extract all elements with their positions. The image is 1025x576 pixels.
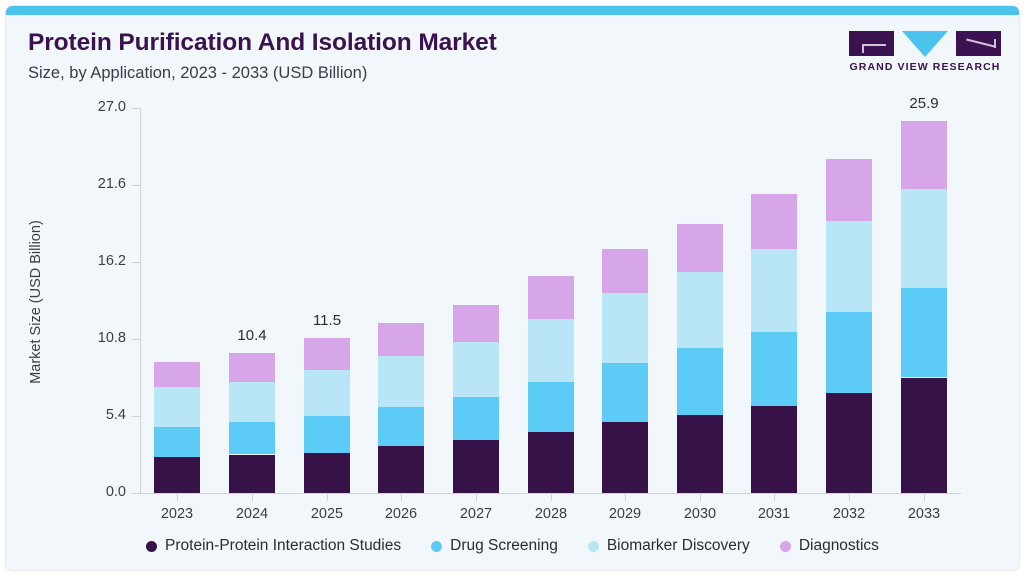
y-axis-tick-label: 0.0	[66, 484, 126, 500]
bar-segment[interactable]	[453, 440, 499, 493]
x-axis-tick	[924, 494, 925, 501]
x-axis-tick-label: 2027	[439, 506, 513, 522]
bar-segment[interactable]	[304, 338, 350, 371]
bar-segment[interactable]	[229, 422, 275, 455]
bar-segment[interactable]	[751, 406, 797, 493]
bar-segment[interactable]	[453, 397, 499, 440]
y-axis-tick	[132, 185, 141, 186]
bar-segment[interactable]	[677, 415, 723, 493]
bar-stack[interactable]	[154, 108, 200, 493]
y-axis-tick-label: 27.0	[66, 99, 126, 115]
bar-segment[interactable]	[751, 332, 797, 406]
legend-item[interactable]: Biomarker Discovery	[588, 537, 750, 555]
bar-stack[interactable]: 25.9	[901, 108, 947, 493]
y-axis-tick	[132, 339, 141, 340]
x-axis-tick-label: 2024	[215, 506, 289, 522]
bar-segment[interactable]	[901, 121, 947, 189]
bar-stack[interactable]	[602, 108, 648, 493]
legend-item-label: Drug Screening	[450, 537, 558, 555]
x-axis-tick	[327, 494, 328, 501]
legend-item[interactable]: Protein-Protein Interaction Studies	[146, 537, 401, 555]
bar-segment[interactable]	[154, 427, 200, 457]
x-axis-tick	[551, 494, 552, 501]
bar-segment[interactable]	[154, 387, 200, 427]
legend-swatch-icon	[588, 541, 599, 552]
x-axis-tick-label: 2023	[140, 506, 214, 522]
bar-segment[interactable]	[826, 393, 872, 493]
bar-segment[interactable]	[826, 312, 872, 393]
bar-segment[interactable]	[602, 363, 648, 421]
y-axis-tick	[132, 493, 141, 494]
legend-item-label: Protein-Protein Interaction Studies	[165, 537, 401, 555]
bar-stack[interactable]: 10.4	[229, 108, 275, 493]
x-axis-tick-label: 2025	[290, 506, 364, 522]
bar-total-label: 10.4	[215, 327, 289, 344]
bar-segment[interactable]	[751, 194, 797, 250]
bar-stack[interactable]	[453, 108, 499, 493]
bar-segment[interactable]	[304, 370, 350, 416]
legend-swatch-icon	[431, 541, 442, 552]
bar-segment[interactable]	[229, 353, 275, 382]
x-axis-tick	[700, 494, 701, 501]
bar-segment[interactable]	[528, 276, 574, 319]
bar-segment[interactable]	[453, 342, 499, 398]
legend-item[interactable]: Drug Screening	[431, 537, 558, 555]
bar-segment[interactable]	[229, 382, 275, 422]
x-axis-tick-label: 2026	[364, 506, 438, 522]
bar-stack[interactable]: 11.5	[304, 108, 350, 493]
bar-segment[interactable]	[901, 189, 947, 287]
bar-segment[interactable]	[826, 159, 872, 220]
chart-card: Protein Purification And Isolation Marke…	[6, 6, 1019, 570]
bar-segment[interactable]	[528, 432, 574, 493]
legend-swatch-icon	[146, 541, 157, 552]
bar-segment[interactable]	[602, 422, 648, 493]
legend-item-label: Diagnostics	[799, 537, 879, 555]
bar-segment[interactable]	[901, 288, 947, 378]
bar-segment[interactable]	[378, 407, 424, 446]
x-axis-tick	[774, 494, 775, 501]
bar-segment[interactable]	[453, 305, 499, 342]
x-axis-tick-label: 2031	[737, 506, 811, 522]
x-axis-tick-label: 2030	[663, 506, 737, 522]
bar-segment[interactable]	[304, 453, 350, 493]
chart-legend: Protein-Protein Interaction StudiesDrug …	[6, 537, 1019, 555]
bar-segment[interactable]	[826, 221, 872, 312]
bar-segment[interactable]	[602, 293, 648, 363]
y-axis-tick-label: 5.4	[66, 407, 126, 423]
y-axis-tick-label: 21.6	[66, 176, 126, 192]
bar-segment[interactable]	[602, 249, 648, 293]
x-axis-tick	[476, 494, 477, 501]
x-axis-tick-label: 2029	[588, 506, 662, 522]
x-axis-tick	[625, 494, 626, 501]
bar-segment[interactable]	[677, 224, 723, 272]
bar-total-label: 11.5	[290, 312, 364, 329]
x-axis-tick-label: 2028	[514, 506, 588, 522]
bar-segment[interactable]	[304, 416, 350, 453]
x-axis-tick	[177, 494, 178, 501]
bar-segment[interactable]	[378, 323, 424, 356]
bar-stack[interactable]	[677, 108, 723, 493]
legend-swatch-icon	[780, 541, 791, 552]
y-axis-tick-label: 16.2	[66, 253, 126, 269]
bar-stack[interactable]	[528, 108, 574, 493]
y-axis-tick-label: 10.8	[66, 330, 126, 346]
y-axis-tick	[132, 108, 141, 109]
bar-segment[interactable]	[528, 319, 574, 382]
plot-area: Market Size (USD Billion) 0.05.410.816.2…	[6, 6, 1019, 570]
bar-segment[interactable]	[378, 356, 424, 407]
legend-item-label: Biomarker Discovery	[607, 537, 750, 555]
bar-total-label: 25.9	[887, 95, 961, 112]
bar-segment[interactable]	[677, 272, 723, 348]
bar-segment[interactable]	[751, 249, 797, 332]
x-axis-tick	[252, 494, 253, 501]
bar-segment[interactable]	[378, 446, 424, 493]
bar-segment[interactable]	[528, 382, 574, 432]
bar-stack[interactable]	[378, 108, 424, 493]
y-axis-title: Market Size (USD Billion)	[28, 152, 44, 452]
bar-segment[interactable]	[229, 455, 275, 494]
y-axis-tick	[132, 262, 141, 263]
legend-item[interactable]: Diagnostics	[780, 537, 879, 555]
x-axis-tick	[401, 494, 402, 501]
y-axis-tick	[132, 416, 141, 417]
bar-segment[interactable]	[154, 457, 200, 493]
bar-stack[interactable]	[751, 108, 797, 493]
y-axis-line	[140, 108, 141, 494]
x-axis-tick-label: 2033	[887, 506, 961, 522]
bar-stack[interactable]	[826, 108, 872, 493]
bar-segment[interactable]	[154, 362, 200, 388]
x-axis-tick-label: 2032	[812, 506, 886, 522]
bar-segment[interactable]	[677, 348, 723, 415]
bar-segment[interactable]	[901, 378, 947, 494]
x-axis-tick	[849, 494, 850, 501]
